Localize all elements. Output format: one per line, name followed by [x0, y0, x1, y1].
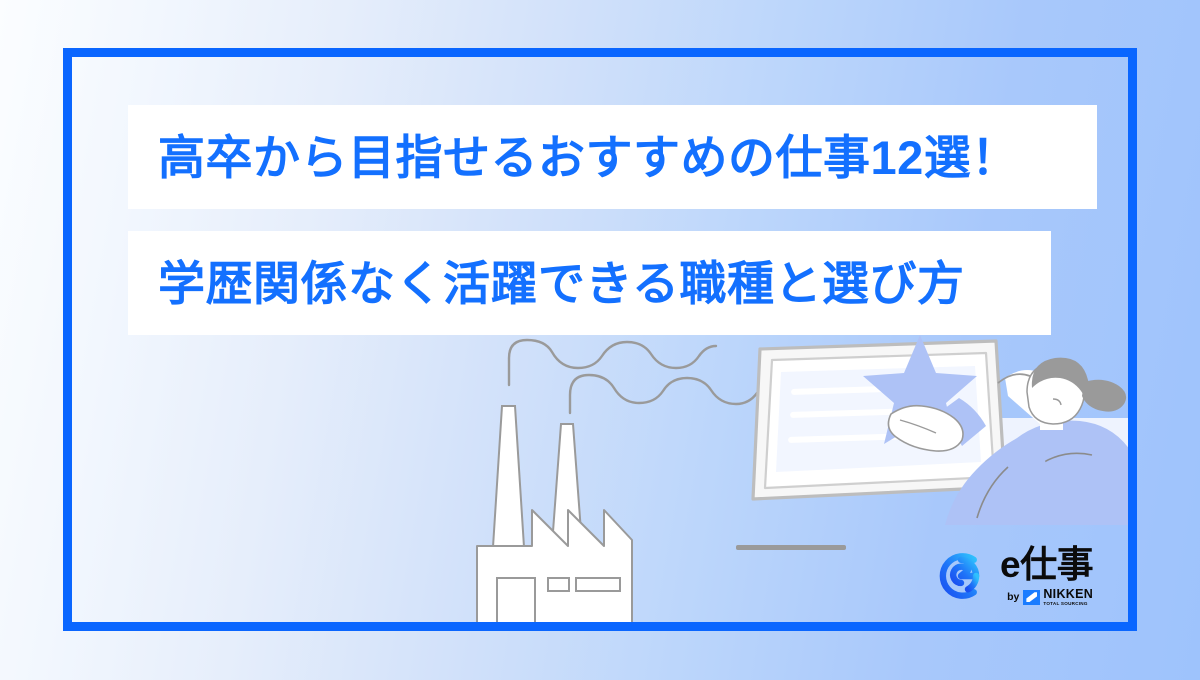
- nikken-name-group: NIKKEN TOTAL SOURCING: [1043, 588, 1093, 607]
- logo-by-label: by: [1007, 592, 1019, 603]
- logo-text-group: e仕事 by NIKKEN TOTAL SOURCING: [1000, 545, 1093, 607]
- nikken-brand-name: NIKKEN: [1043, 588, 1093, 601]
- e-circle-logo-icon: [932, 547, 990, 605]
- nikken-mark-icon: [1023, 590, 1040, 605]
- e-shigoto-logo: e仕事 by NIKKEN TOTAL SOURCING: [932, 545, 1122, 611]
- logo-wordmark: e仕事: [1000, 546, 1093, 583]
- headline-line-2: 学歴関係なく活躍できる職種と選び方: [128, 231, 1051, 335]
- logo-parent-brand-row: by NIKKEN TOTAL SOURCING: [1007, 588, 1093, 607]
- headline-line-1: 高卒から目指せるおすすめの仕事12選！: [128, 105, 1097, 209]
- headline-block: 高卒から目指せるおすすめの仕事12選！ 学歴関係なく活躍できる職種と選び方: [128, 105, 1097, 335]
- nikken-tagline: TOTAL SOURCING: [1043, 602, 1093, 607]
